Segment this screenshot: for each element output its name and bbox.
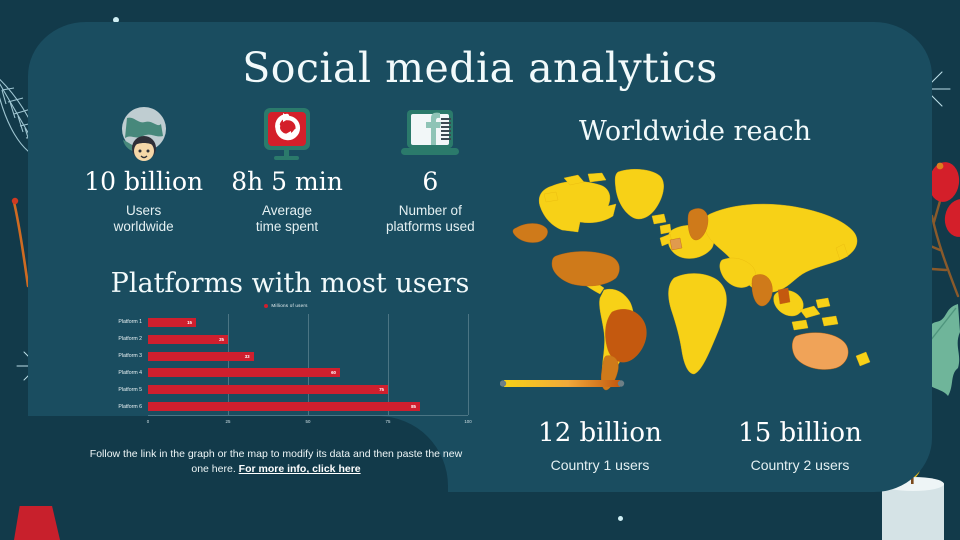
stat-label: Country 2 users (700, 457, 900, 473)
chart-x-tick-label: 100 (464, 419, 471, 424)
chart-category-label: Platform 5 (118, 387, 142, 393)
globe-person-icon (72, 104, 215, 162)
chart-bar[interactable]: 25 (148, 335, 228, 344)
chart-gridline (228, 314, 229, 415)
kpi-label-line2: time spent (215, 219, 358, 236)
chart-x-axis (148, 415, 468, 416)
chart-x-tick-label: 0 (147, 419, 149, 424)
chart-bar[interactable]: 60 (148, 368, 340, 377)
chart-bar[interactable]: 33 (148, 352, 254, 361)
more-info-link[interactable]: For more info, click here (239, 463, 361, 475)
legend-label: Millions of users (271, 303, 307, 308)
world-map-chart[interactable] (500, 160, 890, 395)
kpi-value: 6 (359, 168, 502, 196)
chart-bar[interactable]: 15 (148, 318, 196, 327)
chart-plot-area: 0255075100Platform 115Platform 225Platfo… (148, 314, 468, 415)
chart-bar-value: 60 (331, 370, 340, 375)
stat-label: Country 1 users (500, 457, 700, 473)
chart-bar-row: Platform 685 (148, 402, 468, 411)
chart-category-label: Platform 1 (118, 319, 142, 325)
chart-x-tick-label: 25 (226, 419, 231, 424)
kpi-label-line1: Number of (359, 203, 502, 220)
chart-bar-row: Platform 115 (148, 318, 468, 327)
kpi-value: 8h 5 min (215, 168, 358, 196)
page-title: Social media analytics (0, 44, 960, 92)
refresh-monitor-icon (215, 104, 358, 162)
kpi-platforms-used: 6 Number of platforms used (359, 104, 502, 236)
kpi-label: Average time spent (215, 203, 358, 237)
chart-bar-value: 25 (219, 337, 228, 342)
kpi-label-line1: Average (215, 203, 358, 220)
map-legend-gradient (500, 380, 624, 387)
chart-caption: Follow the link in the graph or the map … (86, 447, 466, 477)
kpi-label: Number of platforms used (359, 203, 502, 237)
chart-category-label: Platform 4 (118, 370, 142, 376)
chart-bar-row: Platform 460 (148, 368, 468, 377)
stat-value: 15 billion (700, 418, 900, 448)
legend-swatch-icon (264, 304, 268, 308)
slide-root: Social media analytics 10 billion U (0, 0, 960, 540)
kpi-row: 10 billion Users worldwide 8h 5 m (72, 104, 502, 236)
country-2-stat: 15 billion Country 2 users (700, 418, 900, 473)
platforms-heading: Platforms with most users (100, 268, 480, 299)
kpi-label-line1: Users (72, 203, 215, 220)
chart-bar-row: Platform 575 (148, 385, 468, 394)
kpi-label-line2: platforms used (359, 219, 502, 236)
kpi-value: 10 billion (72, 168, 215, 196)
kpi-average-time-spent: 8h 5 min Average time spent (215, 104, 358, 236)
chart-category-label: Platform 6 (118, 404, 142, 410)
chart-bar[interactable]: 75 (148, 385, 388, 394)
chart-gridline (388, 314, 389, 415)
chart-gridline (308, 314, 309, 415)
decor-dot (618, 516, 623, 521)
chart-bar-value: 85 (411, 404, 420, 409)
chart-x-tick-label: 50 (306, 419, 311, 424)
platforms-bar-chart[interactable]: Millions of users 0255075100Platform 115… (96, 303, 476, 431)
worldwide-reach-heading: Worldwide reach (530, 116, 860, 147)
world-map-svg[interactable] (500, 160, 890, 395)
chart-bar-value: 75 (379, 387, 388, 392)
country-stats-row: 12 billion Country 1 users 15 billion Co… (500, 418, 900, 473)
chart-bar-row: Platform 225 (148, 335, 468, 344)
kpi-users-worldwide: 10 billion Users worldwide (72, 104, 215, 236)
facebook-laptop-icon (359, 104, 502, 162)
chart-bar[interactable]: 85 (148, 402, 420, 411)
kpi-label: Users worldwide (72, 203, 215, 237)
chart-bar-row: Platform 333 (148, 352, 468, 361)
stat-value: 12 billion (500, 418, 700, 448)
chart-category-label: Platform 3 (118, 353, 142, 359)
chart-x-tick-label: 75 (386, 419, 391, 424)
country-1-stat: 12 billion Country 1 users (500, 418, 700, 473)
kpi-label-line2: worldwide (72, 219, 215, 236)
chart-category-label: Platform 2 (118, 336, 142, 342)
chart-bar-value: 33 (245, 354, 254, 359)
chart-legend: Millions of users (96, 303, 476, 308)
chart-bar-value: 15 (187, 320, 196, 325)
chart-gridline (468, 314, 469, 415)
